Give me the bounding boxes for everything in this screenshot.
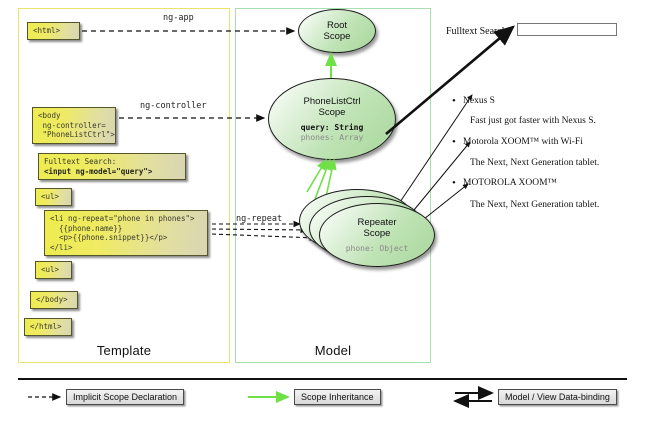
view-item-name-1: Motorola XOOM™ with Wi-Fi — [463, 137, 583, 147]
column-label-model: Model — [236, 343, 430, 358]
column-template: Template — [18, 8, 230, 363]
scope-phonelistctrl-title: PhoneListCtrl Scope — [303, 96, 360, 118]
label-ng-app: ng-app — [163, 13, 194, 23]
view-item-snippet-2: The Next, Next Generation tablet. — [470, 200, 599, 210]
view-item-snippet-0: Fast just got faster with Nexus S. — [470, 116, 596, 126]
code-box-body-close: </body> — [30, 291, 78, 309]
scope-repeater-props: phone: Object — [346, 244, 409, 254]
diagram-canvas: Template Model View <html> <body ng-cont… — [0, 0, 645, 425]
scope-phonelistctrl-title-line1: PhoneListCtrl — [303, 96, 360, 107]
scope-prop-query: query: String — [301, 123, 364, 132]
view-list-item-0: • Nexus S — [463, 96, 495, 106]
legend-divider — [18, 378, 627, 380]
code-box-li-ng-repeat: <li ng-repeat="phone in phones"> {{phone… — [44, 210, 208, 256]
column-model: Model — [235, 8, 431, 363]
code-box-fulltext-search: Fulltext Search: <input ng-model="query"… — [38, 153, 186, 180]
label-ng-controller: ng-controller — [140, 101, 207, 111]
view-list-item-1: • Motorola XOOM™ with Wi-Fi — [463, 137, 583, 147]
legend-label-scope-inheritance: Scope Inheritance — [294, 389, 381, 405]
scope-repeater-title-line2: Scope — [364, 228, 391, 239]
code-box-ul-close: <ul> — [35, 261, 72, 279]
code-box-ul-open: <ul> — [35, 188, 72, 206]
scope-repeater-title-line1: Repeater — [357, 217, 396, 228]
bullet-icon: • — [452, 138, 456, 148]
view-item-snippet-1: The Next, Next Generation tablet. — [470, 158, 599, 168]
scope-repeater-title: Repeater Scope — [357, 217, 396, 239]
label-ng-repeat: ng-repeat — [236, 214, 282, 224]
fulltext-search-line1: Fulltext Search: — [44, 157, 116, 166]
scope-phonelistctrl: PhoneListCtrl Scope query: String phones… — [268, 78, 396, 160]
view-search-input[interactable] — [517, 23, 617, 36]
bullet-icon: • — [452, 179, 456, 189]
view-search-label: Fulltext Search: — [446, 26, 510, 37]
column-label-template: Template — [19, 343, 229, 358]
scope-phonelistctrl-title-line2: Scope — [319, 107, 346, 118]
scope-phonelistctrl-props: query: String phones: Array — [301, 123, 364, 143]
view-item-name-0: Nexus S — [463, 96, 495, 106]
legend-label-implicit-scope-declaration: Implicit Scope Declaration — [66, 389, 184, 405]
scope-root-title-line1: Root — [327, 20, 347, 31]
scope-repeater: Repeater Scope phone: Object — [319, 203, 435, 267]
view-content: Fulltext Search: • Nexus S Fast just got… — [437, 8, 627, 363]
scope-prop-phones: phones: Array — [301, 133, 364, 142]
legend-label-model-view-data-binding: Model / View Data-binding — [498, 389, 617, 405]
view-item-name-2: MOTOROLA XOOM™ — [463, 178, 557, 188]
view-list-item-2: • MOTOROLA XOOM™ — [463, 178, 557, 188]
scope-root-title: Root Scope — [324, 20, 351, 42]
fulltext-search-line2: <input ng-model="query"> — [44, 167, 152, 176]
code-box-html-close: </html> — [24, 318, 72, 336]
scope-root-title-line2: Scope — [324, 31, 351, 42]
scope-prop-phone: phone: Object — [346, 244, 409, 253]
code-box-html-open: <html> — [27, 22, 80, 40]
code-box-body-open: <body ng-controller= "PhoneListCtrl"> — [32, 107, 116, 144]
scope-root: Root Scope — [298, 9, 376, 53]
bullet-icon: • — [452, 97, 456, 107]
